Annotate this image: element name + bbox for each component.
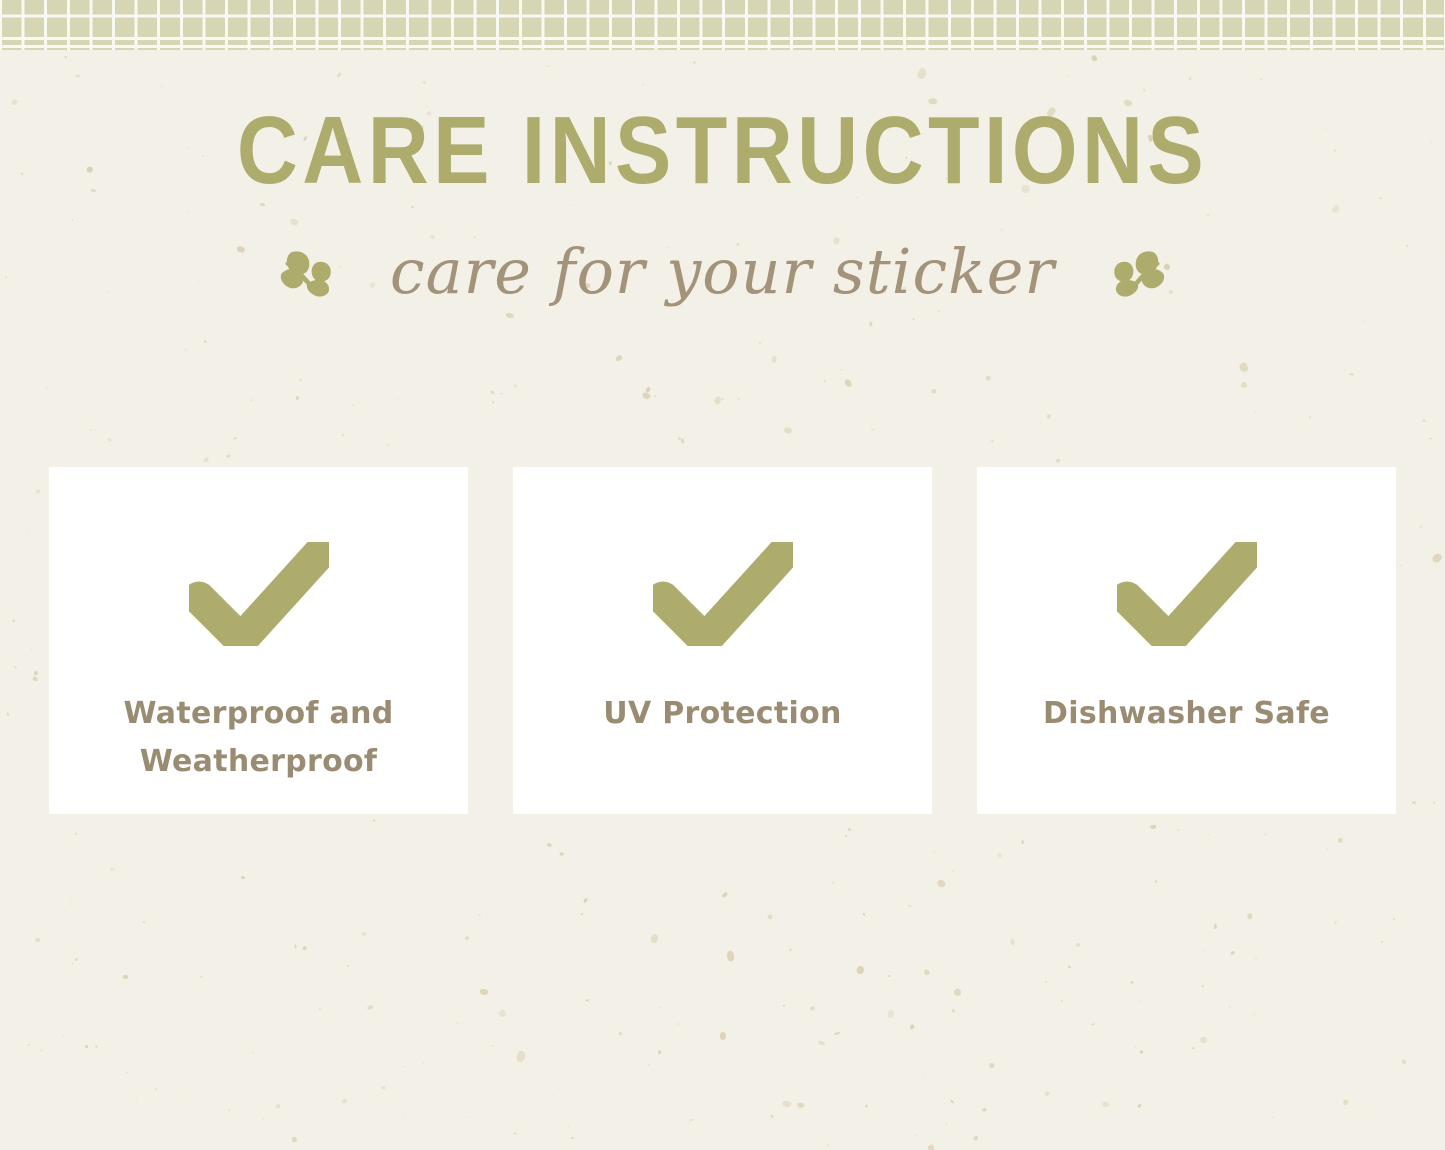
feature-card-waterproof: Waterproof and Weatherproof [49,467,468,814]
check-icon [653,542,793,646]
check-icon [189,542,329,646]
feature-card-dishwasher-safe: Dishwasher Safe [977,467,1396,814]
top-grid-band [0,0,1445,53]
page-title: CARE INSTRUCTIONS [87,103,1359,199]
feature-card-label: Dishwasher Safe [1022,690,1352,738]
feature-card-label-line: UV Protection [558,690,888,738]
subtitle-row: care for your sticker [0,232,1445,312]
feature-card-uv-protection: UV Protection [513,467,932,814]
page-subtitle: care for your sticker [390,241,1055,303]
leaf-sprig-icon-right [1107,246,1165,298]
feature-card-list: Waterproof and Weatherproof UV Protectio… [49,467,1396,814]
feature-card-label: UV Protection [558,690,888,738]
feature-card-label-line: Weatherproof [94,738,424,786]
care-instructions-page: CARE INSTRUCTIONS care for your sticker [0,0,1445,1150]
grid-band-edge [0,50,1445,54]
feature-card-label-line: Dishwasher Safe [1022,690,1352,738]
leaf-sprig-icon-left [280,246,338,298]
check-icon [1117,542,1257,646]
feature-card-label: Waterproof and Weatherproof [94,690,424,786]
feature-card-label-line: Waterproof and [94,690,424,738]
